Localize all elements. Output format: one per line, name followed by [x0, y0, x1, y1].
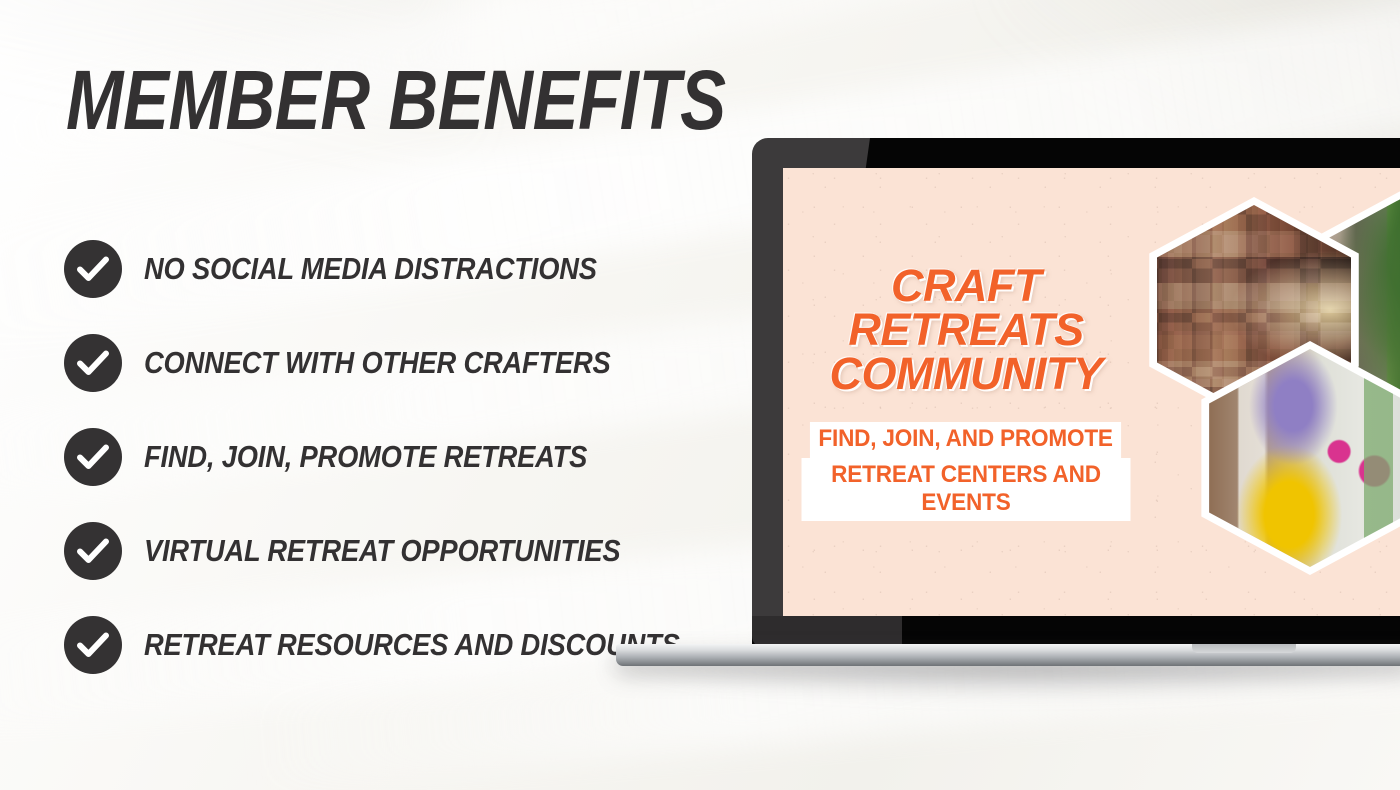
slide-subtitle-line1: FIND, JOIN, AND PROMOTE	[810, 422, 1121, 457]
benefits-list: NO SOCIAL MEDIA DISTRACTIONS CONNECT WIT…	[64, 222, 684, 692]
benefit-item-2: CONNECT WITH OTHER CRAFTERS	[64, 316, 684, 410]
benefits-column: MEMBER BENEFITS NO SOCIAL MEDIA DISTRACT…	[0, 0, 700, 790]
page-title: MEMBER BENEFITS	[66, 58, 726, 142]
benefit-item-5: RETREAT RESOURCES AND DISCOUNTS	[64, 598, 684, 692]
slide-subtitle-block: FIND, JOIN, AND PROMOTE RETREAT CENTERS …	[791, 422, 1141, 521]
laptop-drop-shadow	[602, 662, 1400, 702]
laptop-screen: CRAFT RETREATS COMMUNITY FIND, JOIN, AND…	[783, 168, 1400, 616]
benefit-item-3: FIND, JOIN, PROMOTE RETREATS	[64, 410, 684, 504]
laptop-base-notch	[1192, 644, 1296, 653]
benefit-label: VIRTUAL RETREAT OPPORTUNITIES	[144, 533, 620, 569]
slide-text-block: CRAFT RETREATS COMMUNITY FIND, JOIN, AND…	[791, 264, 1141, 521]
check-circle-icon	[64, 240, 122, 298]
check-circle-icon	[64, 616, 122, 674]
benefit-label: RETREAT RESOURCES AND DISCOUNTS	[144, 627, 680, 663]
check-circle-icon	[64, 334, 122, 392]
hexagon-photo-cluster	[1135, 168, 1400, 616]
benefit-item-4: VIRTUAL RETREAT OPPORTUNITIES	[64, 504, 684, 598]
benefit-label: FIND, JOIN, PROMOTE RETREATS	[144, 439, 587, 475]
slide-subtitle-line2: RETREAT CENTERS AND EVENTS	[802, 458, 1131, 522]
benefit-item-1: NO SOCIAL MEDIA DISTRACTIONS	[64, 222, 684, 316]
slide-heading-line1: CRAFT RETREATS	[791, 264, 1141, 352]
poster-canvas: MEMBER BENEFITS NO SOCIAL MEDIA DISTRACT…	[0, 0, 1400, 790]
check-circle-icon	[64, 428, 122, 486]
check-circle-icon	[64, 522, 122, 580]
laptop-mockup: CRAFT RETREATS COMMUNITY FIND, JOIN, AND…	[752, 138, 1400, 658]
slide-heading-line2: COMMUNITY	[791, 352, 1141, 396]
benefit-label: CONNECT WITH OTHER CRAFTERS	[144, 345, 611, 381]
benefit-label: NO SOCIAL MEDIA DISTRACTIONS	[144, 251, 597, 287]
